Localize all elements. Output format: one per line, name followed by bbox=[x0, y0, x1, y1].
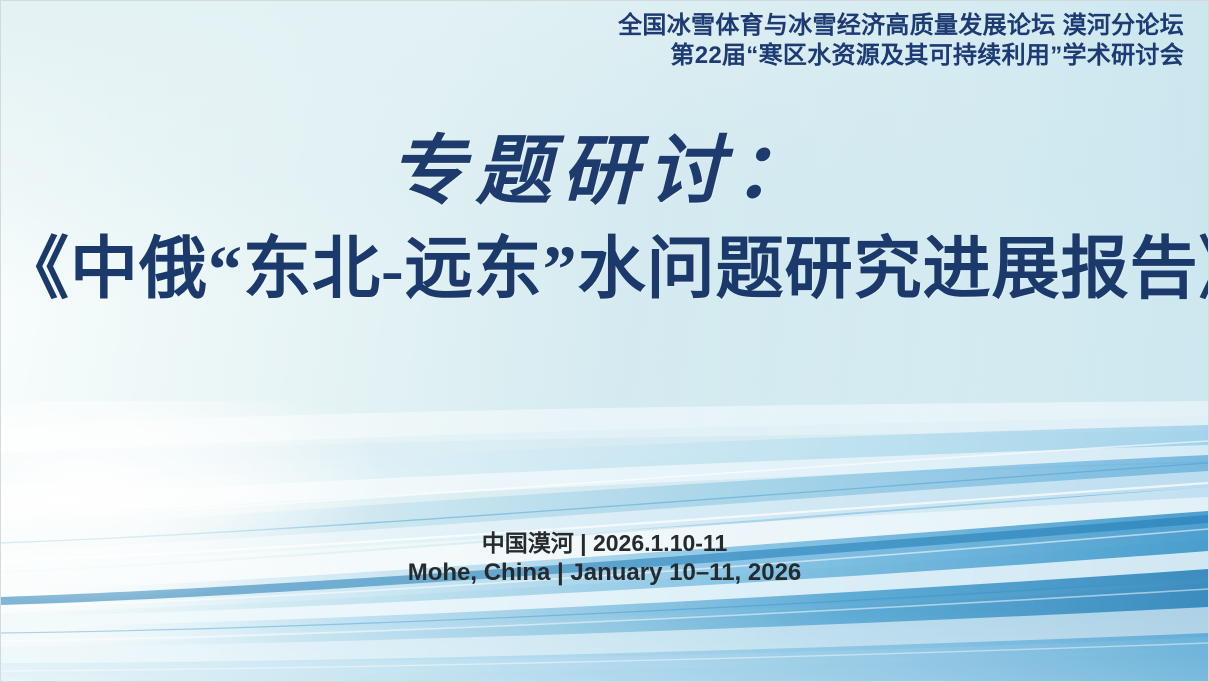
venue-date-block: 中国漠河 | 2026.1.10-11 Mohe, China | Januar… bbox=[1, 529, 1208, 588]
title-block: 专题研讨： 《中俄“东北-远东”水问题研究进展报告》 bbox=[1, 129, 1208, 309]
venue-date-english: Mohe, China | January 10–11, 2026 bbox=[1, 558, 1208, 588]
forum-name-line: 全国冰雪体育与冰雪经济高质量发展论坛 漠河分论坛 bbox=[618, 11, 1184, 41]
venue-date-chinese: 中国漠河 | 2026.1.10-11 bbox=[1, 529, 1208, 558]
symposium-name-line: 第22届“寒区水资源及其可持续利用”学术研讨会 bbox=[618, 41, 1184, 71]
conference-header: 全国冰雪体育与冰雪经济高质量发展论坛 漠河分论坛 第22届“寒区水资源及其可持续… bbox=[618, 11, 1184, 71]
report-title: 《中俄“东北-远东”水问题研究进展报告》 bbox=[1, 229, 1208, 309]
title-slide: 全国冰雪体育与冰雪经济高质量发展论坛 漠河分论坛 第22届“寒区水资源及其可持续… bbox=[0, 0, 1209, 682]
page-title: 专题研讨： bbox=[1, 129, 1208, 215]
